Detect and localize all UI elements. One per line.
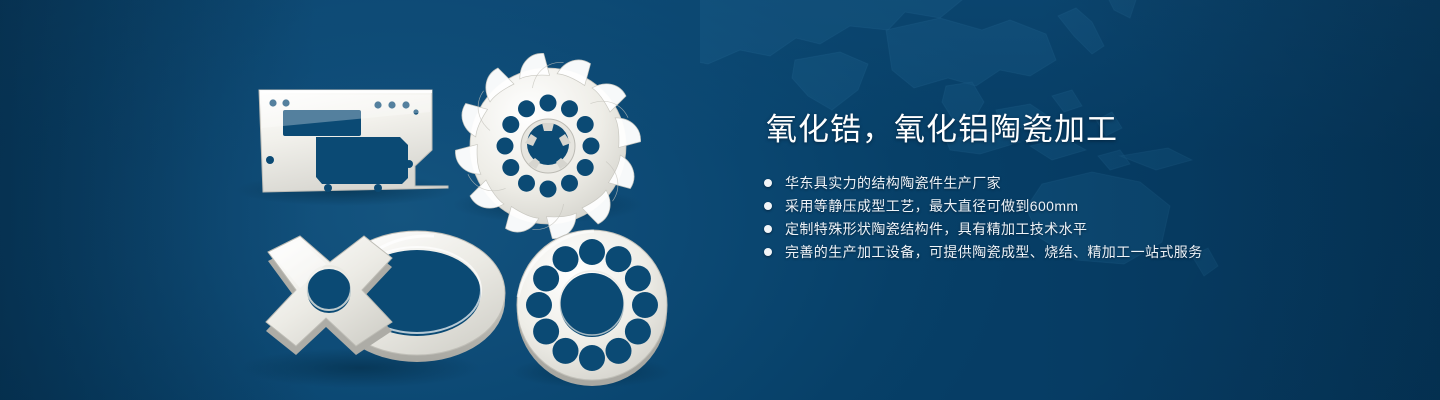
feature-text: 华东具实力的结构陶瓷件生产厂家 <box>785 172 1001 194</box>
page-title: 氧化锆，氧化铝陶瓷加工 <box>766 110 1384 150</box>
feature-text: 采用等静压成型工艺，最大直径可做到600mm <box>785 195 1078 217</box>
feature-list: 华东具实力的结构陶瓷件生产厂家 采用等静压成型工艺，最大直径可做到600mm 定… <box>764 172 1384 263</box>
promo-banner: 氧化锆，氧化铝陶瓷加工 华东具实力的结构陶瓷件生产厂家 采用等静压成型工艺，最大… <box>0 0 1440 400</box>
list-item: 采用等静压成型工艺，最大直径可做到600mm <box>764 195 1384 217</box>
bullet-dot-icon <box>764 179 772 187</box>
list-item: 定制特殊形状陶瓷结构件，具有精加工技术水平 <box>764 218 1384 240</box>
ceramic-perforated-disc-part <box>517 230 667 386</box>
ceramic-products-image <box>0 0 720 400</box>
bullet-dot-icon <box>764 248 772 256</box>
feature-text: 定制特殊形状陶瓷结构件，具有精加工技术水平 <box>785 218 1087 240</box>
feature-text: 完善的生产加工设备，可提供陶瓷成型、烧结、精加工一站式服务 <box>785 241 1203 263</box>
ceramic-plate-part <box>259 90 448 192</box>
banner-copy: 氧化锆，氧化铝陶瓷加工 华东具实力的结构陶瓷件生产厂家 采用等静压成型工艺，最大… <box>764 110 1384 264</box>
list-item: 华东具实力的结构陶瓷件生产厂家 <box>764 172 1384 194</box>
bullet-dot-icon <box>764 202 772 210</box>
list-item: 完善的生产加工设备，可提供陶瓷成型、烧结、精加工一站式服务 <box>764 241 1384 263</box>
bullet-dot-icon <box>764 225 772 233</box>
